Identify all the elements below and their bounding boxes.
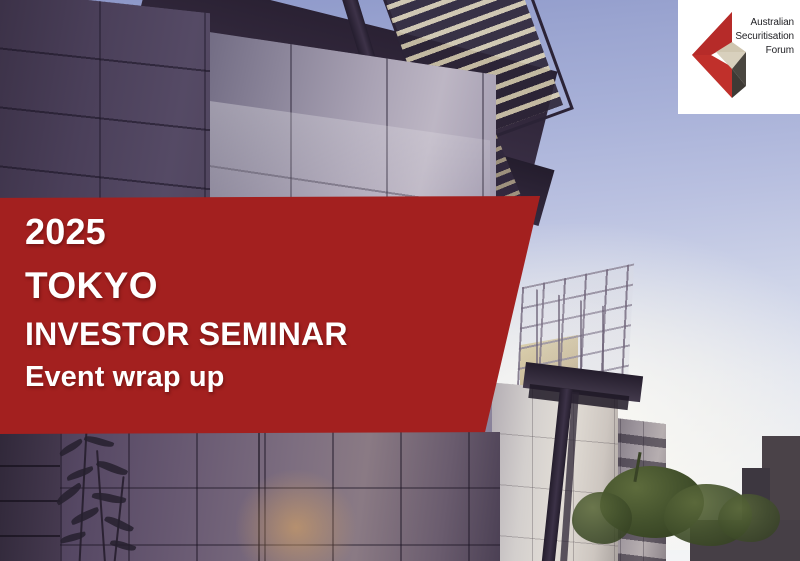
tree-canopy-3 xyxy=(572,492,632,544)
logo-word-line-3: Forum xyxy=(724,44,794,58)
title-subtitle: Event wrap up xyxy=(25,363,445,392)
logo-word-line-1: Australian xyxy=(724,16,794,30)
tree-canopy-4 xyxy=(718,494,780,542)
title-city: TOKYO xyxy=(25,267,445,304)
bamboo-plant xyxy=(48,428,208,561)
title-year: 2025 xyxy=(25,214,445,250)
title-event: INVESTOR SEMINAR xyxy=(25,318,445,350)
title-block: 2025 TOKYO INVESTOR SEMINAR Event wrap u… xyxy=(25,214,445,392)
logo-plate: Australian Securitisation Forum xyxy=(678,0,800,114)
logo-wordmark: Australian Securitisation Forum xyxy=(724,16,794,57)
title-slide: 2025 TOKYO INVESTOR SEMINAR Event wrap u… xyxy=(0,0,800,561)
logo-word-line-2: Securitisation xyxy=(724,30,794,44)
lower-facade-warm-light xyxy=(236,470,356,561)
